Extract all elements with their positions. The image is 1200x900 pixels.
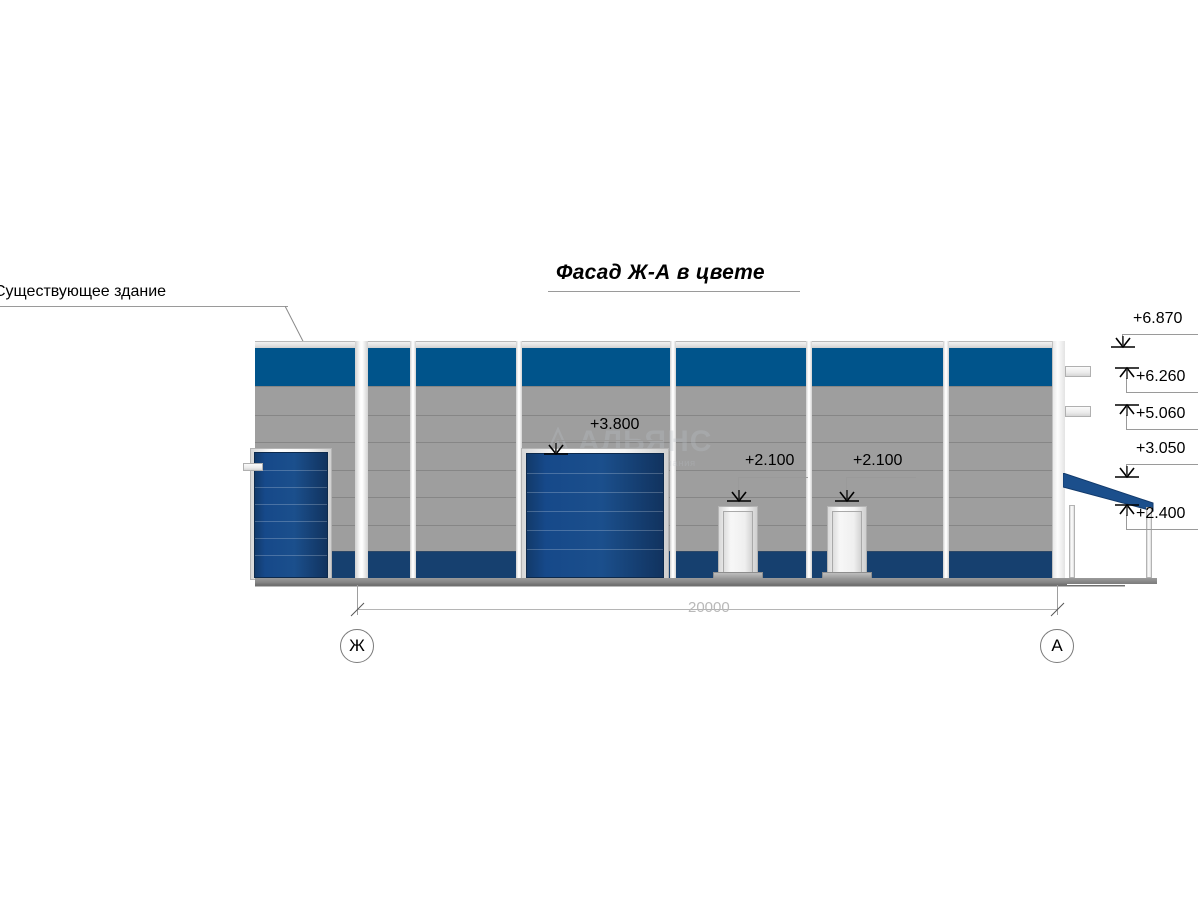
level-arrow-down-icon <box>1110 336 1136 350</box>
mullion-joint <box>806 341 812 578</box>
axis-bubble-left[interactable]: Ж <box>340 629 374 663</box>
canopy-post-left <box>1069 505 1075 578</box>
level-arrow-down-icon <box>543 443 569 457</box>
level-marker-4-leader-horizontal <box>1126 529 1198 530</box>
building-plinth <box>255 578 1067 585</box>
overall-dimension-label: 20000 <box>688 599 730 616</box>
level-marker-4-leader-vertical <box>1126 515 1127 529</box>
elevation-drawing-canvas: Фасад Ж-А в цвете Существующее здание <box>0 0 1200 900</box>
level-marker-0-leader-horizontal <box>1122 334 1198 335</box>
level-arrow-up-icon <box>1114 503 1140 517</box>
drawing-title-underline <box>548 291 800 292</box>
level-marker-personnel-door-2-label: +2.100 <box>853 452 902 470</box>
mullion-joint <box>355 341 368 578</box>
level-marker-leader-horizontal <box>846 477 916 478</box>
level-arrow-up-icon <box>1114 403 1140 417</box>
level-marker-2-label: +5.060 <box>1136 405 1185 423</box>
level-arrow-down-icon <box>726 490 752 504</box>
level-arrow-down-icon <box>1114 466 1140 480</box>
axis-bubble-right[interactable]: А <box>1040 629 1074 663</box>
ground-line-shadow <box>255 586 1125 587</box>
level-marker-personnel-door-1-label: +2.100 <box>745 452 794 470</box>
mullion-joint <box>943 341 949 578</box>
drawing-title: Фасад Ж-А в цвете <box>556 261 765 285</box>
level-marker-sectional-door-label: +3.800 <box>590 416 639 434</box>
level-marker-leader-horizontal <box>555 440 663 441</box>
end-wall-return <box>1052 341 1065 578</box>
mullion-joint <box>410 341 416 578</box>
right-wall-ledge-upper <box>1065 366 1091 377</box>
dimension-tick-right <box>1050 602 1066 618</box>
level-marker-4-label: +2.400 <box>1136 505 1185 523</box>
personnel-door-1[interactable] <box>723 511 753 578</box>
axis-bubble-left-label: Ж <box>349 636 365 656</box>
sectional-door-main[interactable] <box>526 453 664 578</box>
level-marker-1-leader-vertical <box>1126 378 1127 392</box>
axis-bubble-right-label: А <box>1051 636 1062 656</box>
existing-building-label: Существующее здание <box>0 283 166 301</box>
level-arrow-up-icon <box>1114 366 1140 380</box>
level-marker-leader-horizontal <box>738 477 808 478</box>
level-marker-0-label: +6.870 <box>1133 310 1182 328</box>
right-wall-ledge-lower <box>1065 406 1091 417</box>
dimension-tick-left <box>350 602 366 618</box>
canopy-base-slab <box>1067 578 1157 584</box>
level-marker-1-leader-horizontal <box>1126 392 1198 393</box>
level-marker-3-label: +3.050 <box>1136 440 1185 458</box>
existing-building-leader-horizontal <box>0 306 288 307</box>
level-marker-3-leader-horizontal <box>1126 464 1198 465</box>
level-marker-2-leader-horizontal <box>1126 429 1198 430</box>
level-marker-1-label: +6.260 <box>1136 368 1185 386</box>
level-marker-2-leader-vertical <box>1126 415 1127 429</box>
left-wall-ledge <box>243 463 263 471</box>
garage-door-1[interactable] <box>254 452 328 578</box>
personnel-door-2[interactable] <box>832 511 862 578</box>
level-arrow-down-icon <box>834 490 860 504</box>
